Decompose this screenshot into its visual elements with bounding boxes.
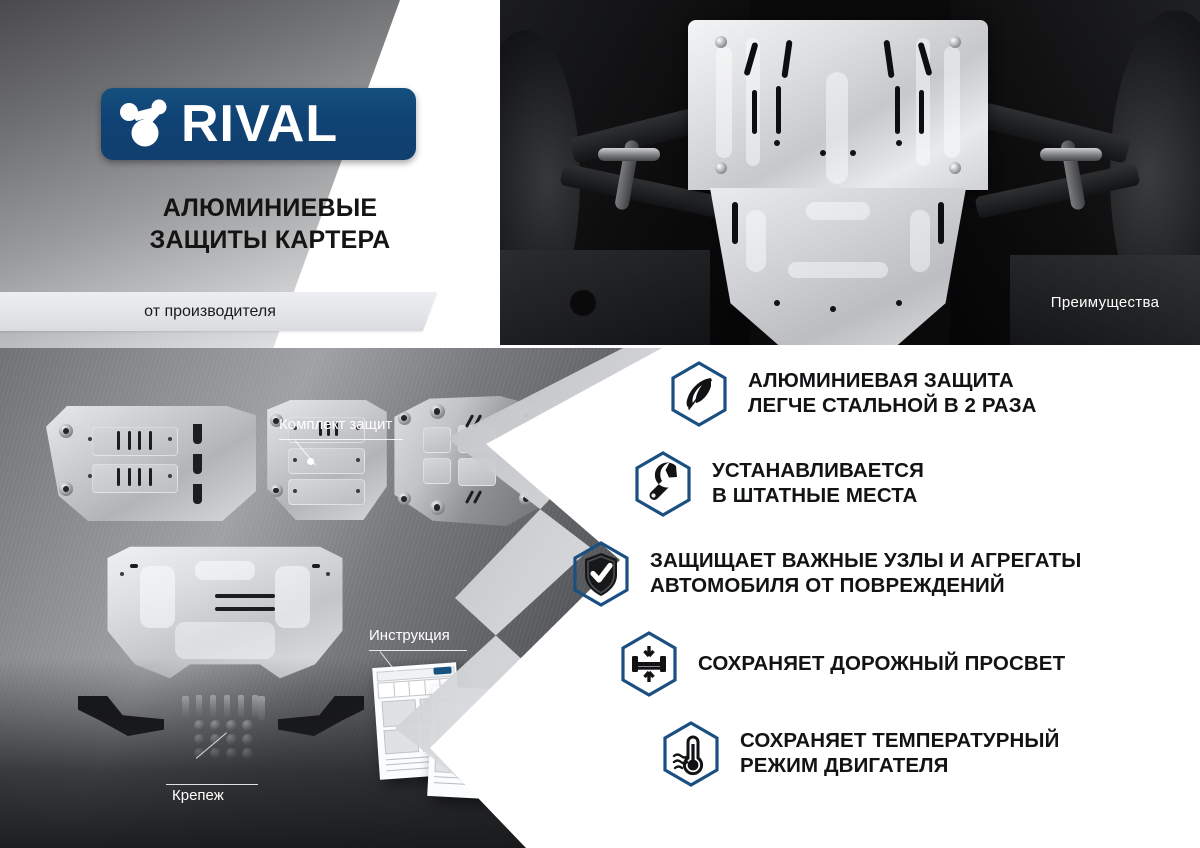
- headline-line-2: ЗАЩИТЫ КАРТЕРА: [60, 224, 480, 256]
- feature-text-thermal: СОХРАНЯЕТ ТЕМПЕРАТУРНЫЙ РЕЖИМ ДВИГАТЕЛЯ: [740, 729, 1059, 778]
- feature-text-protection: ЗАЩИЩАЕТ ВАЖНЫЕ УЗЛЫ И АГРЕГАТЫ АВТОМОБИ…: [650, 549, 1081, 598]
- skid-plate-1: [46, 406, 256, 521]
- feature-item-protection: ЗАЩИЩАЕТ ВАЖНЫЕ УЗЛЫ И АГРЕГАТЫ АВТОМОБИ…: [560, 540, 1200, 608]
- tie-rod-left: [598, 148, 660, 161]
- photo-chassis-box-left: [500, 250, 710, 345]
- feature-text-ground-clearance: СОХРАНЯЕТ ДОРОЖНЫЙ ПРОСВЕТ: [698, 652, 1065, 677]
- feature-line-1: АЛЮМИНИЕВАЯ ЗАЩИТА: [748, 369, 1037, 394]
- skid-plate-lower-section: [710, 188, 966, 345]
- shield-check-icon: [570, 540, 632, 608]
- ground-clearance-icon: [618, 630, 680, 698]
- callout-fasteners-label: Крепеж: [172, 787, 224, 804]
- headline-line-1: АЛЮМИНИЕВЫЕ: [60, 192, 480, 224]
- page-title: АЛЮМИНИЕВЫЕ ЗАЩИТЫ КАРТЕРА: [60, 192, 480, 256]
- logo-wordmark: RIVAL: [181, 98, 338, 150]
- feature-line-1: СОХРАНЯЕТ ДОРОЖНЫЙ ПРОСВЕТ: [698, 652, 1065, 677]
- molecule-icon: [115, 94, 185, 154]
- callout-instruction-underline: [369, 650, 467, 651]
- callout-plate-set-label: Комплект защит: [279, 416, 392, 433]
- promo-banner: Преимущества RIVAL АЛЮМИНИЕВЫЕ ЗАЩИТЫ КА…: [0, 0, 1200, 848]
- feature-line-2: РЕЖИМ ДВИГАТЕЛЯ: [740, 754, 1059, 779]
- thermometer-icon: [660, 720, 722, 788]
- rival-logo: RIVAL: [101, 88, 416, 160]
- feature-line-2: ЛЕГЧЕ СТАЛЬНОЙ В 2 РАЗА: [748, 394, 1037, 419]
- callout-fasteners-underline: [166, 784, 258, 785]
- subtitle-label: от производителя: [0, 292, 420, 331]
- feather-icon: [668, 360, 730, 428]
- feature-item-oem-fitment: УСТАНАВЛИВАЕТСЯ В ШТАТНЫЕ МЕСТА: [560, 450, 1200, 518]
- advantages-label: Преимущества: [1010, 286, 1200, 318]
- feature-line-1: СОХРАНЯЕТ ТЕМПЕРАТУРНЫЙ: [740, 729, 1059, 754]
- feature-line-2: В ШТАТНЫЕ МЕСТА: [712, 484, 924, 509]
- callout-plate-set-dot: [307, 458, 314, 465]
- feature-item-ground-clearance: СОХРАНЯЕТ ДОРОЖНЫЙ ПРОСВЕТ: [560, 630, 1200, 698]
- feature-item-lightweight: АЛЮМИНИЕВАЯ ЗАЩИТА ЛЕГЧЕ СТАЛЬНОЙ В 2 РА…: [560, 360, 1200, 428]
- wrench-icon: [632, 450, 694, 518]
- feature-text-lightweight: АЛЮМИНИЕВАЯ ЗАЩИТА ЛЕГЧЕ СТАЛЬНОЙ В 2 РА…: [748, 369, 1037, 418]
- feature-item-thermal: СОХРАНЯЕТ ТЕМПЕРАТУРНЫЙ РЕЖИМ ДВИГАТЕЛЯ: [560, 720, 1200, 788]
- feature-text-oem-fitment: УСТАНАВЛИВАЕТСЯ В ШТАТНЫЕ МЕСТА: [712, 459, 924, 508]
- features-list: АЛЮМИНИЕВАЯ ЗАЩИТА ЛЕГЧЕ СТАЛЬНОЙ В 2 РА…: [560, 360, 1200, 810]
- feature-line-1: ЗАЩИЩАЕТ ВАЖНЫЕ УЗЛЫ И АГРЕГАТЫ: [650, 549, 1081, 574]
- callout-plate-set-underline: [279, 439, 403, 440]
- tie-rod-right: [1040, 148, 1102, 161]
- feature-line-2: АВТОМОБИЛЯ ОТ ПОВРЕЖДЕНИЙ: [650, 574, 1081, 599]
- callout-instruction-label: Инструкция: [369, 627, 450, 644]
- skid-plate-upper-section: [688, 20, 988, 190]
- installed-skid-plate: [688, 20, 988, 330]
- feature-line-1: УСТАНАВЛИВАЕТСЯ: [712, 459, 924, 484]
